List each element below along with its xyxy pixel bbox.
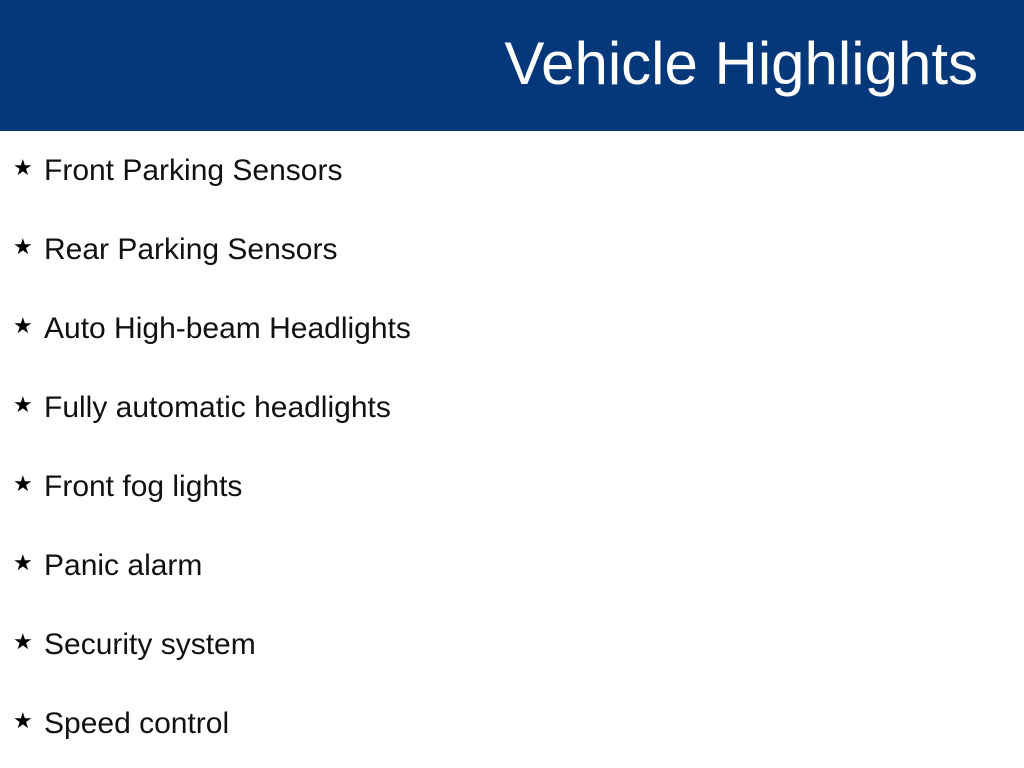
star-bullet-icon: ★	[13, 474, 44, 496]
star-bullet-icon: ★	[13, 632, 44, 654]
list-item-label: Panic alarm	[44, 549, 202, 582]
slide-header-band: Vehicle Highlights	[0, 0, 1024, 131]
list-item-label: Front fog lights	[44, 470, 242, 503]
list-item-label: Rear Parking Sensors	[44, 233, 337, 266]
list-item: ★ Rear Parking Sensors	[0, 210, 1024, 289]
star-bullet-icon: ★	[13, 553, 44, 575]
star-bullet-icon: ★	[13, 158, 44, 180]
star-bullet-icon: ★	[13, 711, 44, 733]
list-item: ★ Auto High-beam Headlights	[0, 289, 1024, 368]
list-item-label: Fully automatic headlights	[44, 391, 391, 424]
page-title: Vehicle Highlights	[504, 34, 978, 98]
vehicle-highlights-slide: Vehicle Highlights ★ Front Parking Senso…	[0, 0, 1024, 768]
list-item-label: Auto High-beam Headlights	[44, 312, 411, 345]
list-item-label: Speed control	[44, 707, 229, 740]
star-bullet-icon: ★	[13, 395, 44, 417]
list-item-label: Front Parking Sensors	[44, 154, 342, 187]
list-item: ★ Front Parking Sensors	[0, 131, 1024, 210]
vehicle-highlights-list: ★ Front Parking Sensors ★ Rear Parking S…	[0, 131, 1024, 763]
list-item: ★ Speed control	[0, 684, 1024, 763]
list-item: ★ Fully automatic headlights	[0, 368, 1024, 447]
list-item: ★ Security system	[0, 605, 1024, 684]
list-item: ★ Panic alarm	[0, 526, 1024, 605]
star-bullet-icon: ★	[13, 237, 44, 259]
list-item-label: Security system	[44, 628, 256, 661]
star-bullet-icon: ★	[13, 316, 44, 338]
list-item: ★ Front fog lights	[0, 447, 1024, 526]
